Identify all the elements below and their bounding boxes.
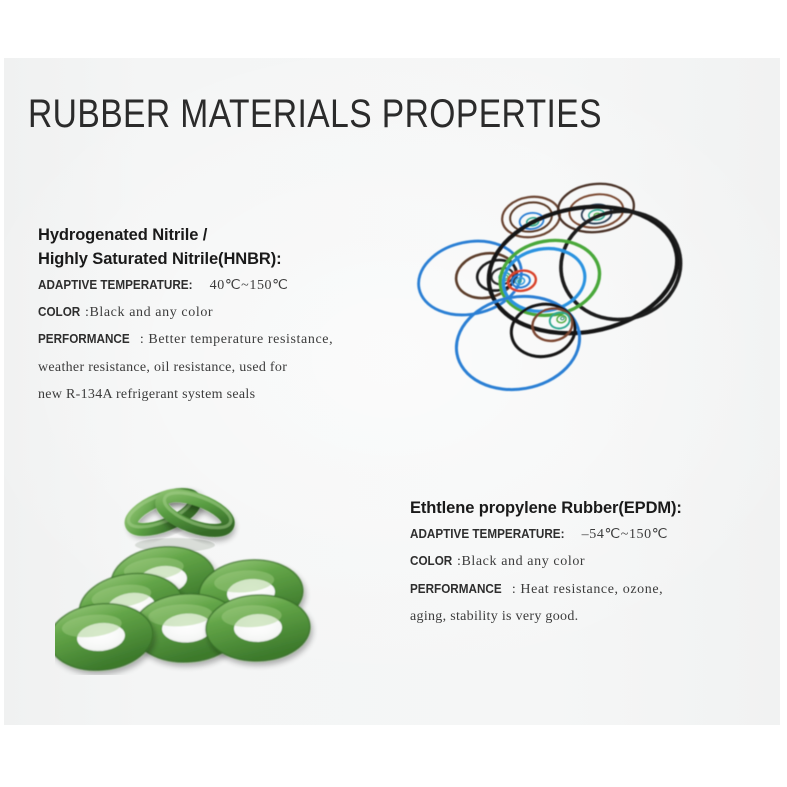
performance-label: PERFORMANCE: [38, 326, 130, 351]
performance-row: PERFORMANCE: Heat resistance, ozone,: [410, 576, 682, 603]
color-row: COLOR:Black and any color: [38, 299, 333, 326]
green-o-ring-pile-photo: [55, 465, 320, 675]
material-block-hnbr: Hydrogenated Nitrile / Highly Saturated …: [38, 224, 333, 408]
color-value: :Black and any color: [457, 554, 585, 569]
adaptive-temperature-row: ADAPTIVE TEMPERATURE:40℃~150℃: [38, 272, 333, 299]
adaptive-temperature-label: ADAPTIVE TEMPERATURE:: [410, 521, 564, 546]
performance-label: PERFORMANCE: [410, 576, 502, 601]
adaptive-temperature-row: ADAPTIVE TEMPERATURE:–54℃~150℃: [410, 521, 682, 548]
assorted-o-rings-photo: [398, 175, 728, 425]
material-heading-line1: Hydrogenated Nitrile /: [38, 224, 333, 248]
material-heading-line1: Ethtlene propylene Rubber(EPDM):: [410, 497, 682, 521]
performance-value-line2: aging, stability is very good.: [410, 603, 682, 630]
material-heading-line2: Highly Saturated Nitrile(HNBR):: [38, 248, 333, 272]
page-title: RUBBER MATERIALS PROPERTIES: [28, 92, 602, 137]
color-row: COLOR:Black and any color: [410, 548, 682, 575]
performance-value-line3: new R-134A refrigerant system seals: [38, 381, 333, 408]
color-value: :Black and any color: [85, 305, 213, 320]
material-block-epdm: Ethtlene propylene Rubber(EPDM): ADAPTIV…: [410, 497, 682, 630]
color-label: COLOR: [410, 548, 452, 573]
adaptive-temperature-label: ADAPTIVE TEMPERATURE:: [38, 272, 192, 297]
performance-value-line2: weather resistance, oil resistance, used…: [38, 354, 333, 381]
adaptive-temperature-value: –54℃~150℃: [582, 527, 668, 542]
slide-canvas: RUBBER MATERIALS PROPERTIES Hydrogenated…: [0, 0, 787, 787]
color-label: COLOR: [38, 299, 80, 324]
adaptive-temperature-value: 40℃~150℃: [210, 278, 289, 293]
performance-value-line1: : Better temperature resistance,: [140, 332, 333, 347]
performance-value-line1: : Heat resistance, ozone,: [512, 582, 663, 597]
performance-row: PERFORMANCE: Better temperature resistan…: [38, 326, 333, 353]
